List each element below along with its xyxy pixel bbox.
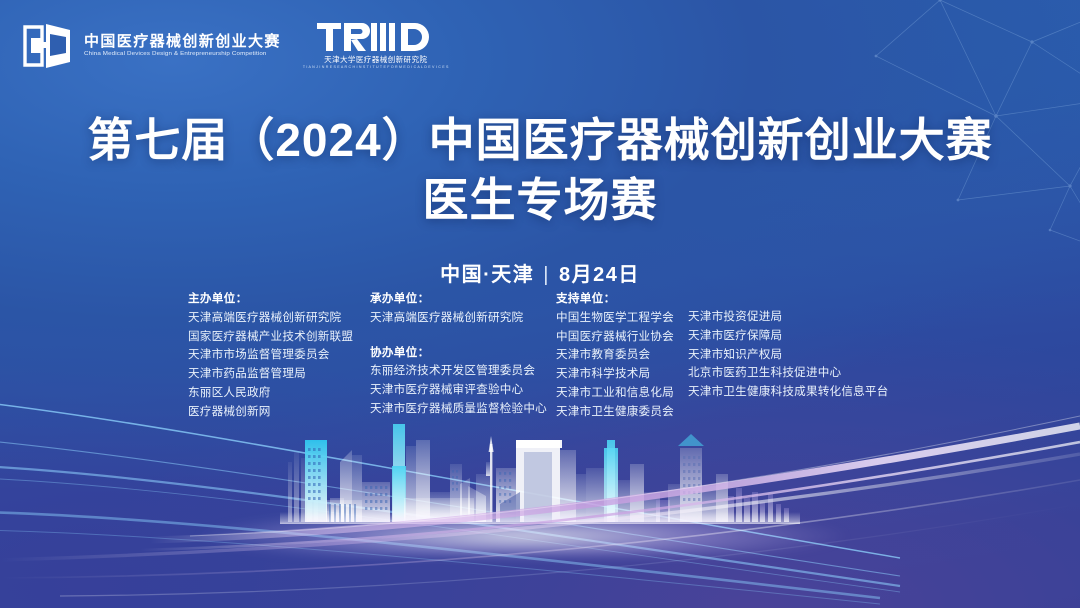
org-group: 协办单位： 东丽经济技术开发区管理委员会 天津市医疗器械审评查验中心 天津市医疗…	[370, 344, 556, 419]
org-group: 天津市投资促进局 天津市医疗保障局 天津市知识产权局 北京市医药卫生科技促进中心…	[688, 308, 898, 402]
org-group: 承办单位： 天津高端医疗器械创新研究院	[370, 290, 556, 328]
subtitle-date: 8月24日	[559, 264, 640, 286]
header-logos: 中国医疗器械创新创业大赛 China Medical Devices Desig…	[22, 22, 449, 70]
org-group-heading: 承办单位：	[370, 290, 556, 309]
org-item: 天津高端医疗器械创新研究院	[370, 309, 556, 328]
org-item: 天津市科学技术局	[556, 365, 688, 384]
org-group-heading: 支持单位：	[556, 290, 688, 309]
org-item: 医疗器械创新网	[188, 403, 370, 422]
org-item: 国家医疗器械产业技术创新联盟	[188, 328, 370, 347]
org-item: 北京市医药卫生科技促进中心	[688, 364, 898, 383]
institute-logo-en: T I A N J I N R E S E A R C H I N S T I …	[303, 66, 449, 70]
org-group-heading: 协办单位：	[370, 344, 556, 363]
org-item: 天津高端医疗器械创新研究院	[188, 309, 370, 328]
open-door-logo-icon	[22, 22, 74, 70]
org-item: 天津市卫生健康科技成果转化信息平台	[688, 383, 898, 402]
organizations-block: 主办单位： 天津高端医疗器械创新研究院 国家医疗器械产业技术创新联盟 天津市市场…	[188, 290, 898, 421]
org-item: 天津市知识产权局	[688, 346, 898, 365]
org-item: 天津市卫生健康委员会	[556, 403, 688, 422]
org-item: 东丽经济技术开发区管理委员会	[370, 362, 556, 381]
subtitle-location: 中国·天津	[440, 264, 534, 286]
org-item: 东丽区人民政府	[188, 384, 370, 403]
subtitle-separator: |	[534, 264, 559, 287]
org-item: 天津市工业和信息化局	[556, 384, 688, 403]
institute-logo-zh: 天津大学医疗器械创新研究院	[324, 56, 427, 64]
org-group-heading: 主办单位：	[188, 290, 370, 309]
org-item: 天津市市场监督管理委员会	[188, 346, 370, 365]
org-item: 中国医疗器械行业协会	[556, 328, 688, 347]
organizations-column-3: 支持单位： 中国生物医学工程学会 中国医疗器械行业协会 天津市教育委员会 天津市…	[556, 290, 688, 421]
competition-logo-en: China Medical Devices Design & Entrepren…	[84, 52, 281, 58]
title-line-1: 第七届（2024）中国医疗器械创新创业大赛	[0, 112, 1080, 168]
institute-logo[interactable]: 天津大学医疗器械创新研究院 T I A N J I N R E S E A R …	[303, 22, 449, 69]
org-item: 中国生物医学工程学会	[556, 309, 688, 328]
org-item: 天津市药品监督管理局	[188, 365, 370, 384]
org-item: 天津市医疗保障局	[688, 327, 898, 346]
org-item: 天津市投资促进局	[688, 308, 898, 327]
purple-light-ribbons-icon	[0, 400, 1080, 608]
poster-canvas: 中国医疗器械创新创业大赛 China Medical Devices Desig…	[0, 0, 1080, 608]
org-group: 主办单位： 天津高端医疗器械创新研究院 国家医疗器械产业技术创新联盟 天津市市场…	[188, 290, 370, 421]
poster-title: 第七届（2024）中国医疗器械创新创业大赛 医生专场赛	[0, 112, 1080, 228]
organizations-column-1: 主办单位： 天津高端医疗器械创新研究院 国家医疗器械产业技术创新联盟 天津市市场…	[188, 290, 370, 421]
organizations-column-2: 承办单位： 天津高端医疗器械创新研究院 协办单位： 东丽经济技术开发区管理委员会…	[370, 290, 556, 419]
trimd-wordmark-icon	[317, 22, 435, 52]
org-item: 天津市医疗器械审评查验中心	[370, 381, 556, 400]
poster-subtitle: 中国·天津|8月24日	[0, 258, 1080, 287]
organizations-column-4: 天津市投资促进局 天津市医疗保障局 天津市知识产权局 北京市医药卫生科技促进中心…	[688, 290, 898, 402]
org-group: 支持单位： 中国生物医学工程学会 中国医疗器械行业协会 天津市教育委员会 天津市…	[556, 290, 688, 421]
title-line-2: 医生专场赛	[0, 172, 1080, 228]
org-item: 天津市医疗器械质量监督检验中心	[370, 400, 556, 419]
competition-logo-zh: 中国医疗器械创新创业大赛	[84, 34, 281, 49]
org-item: 天津市教育委员会	[556, 346, 688, 365]
competition-logo[interactable]: 中国医疗器械创新创业大赛 China Medical Devices Desig…	[22, 22, 281, 70]
